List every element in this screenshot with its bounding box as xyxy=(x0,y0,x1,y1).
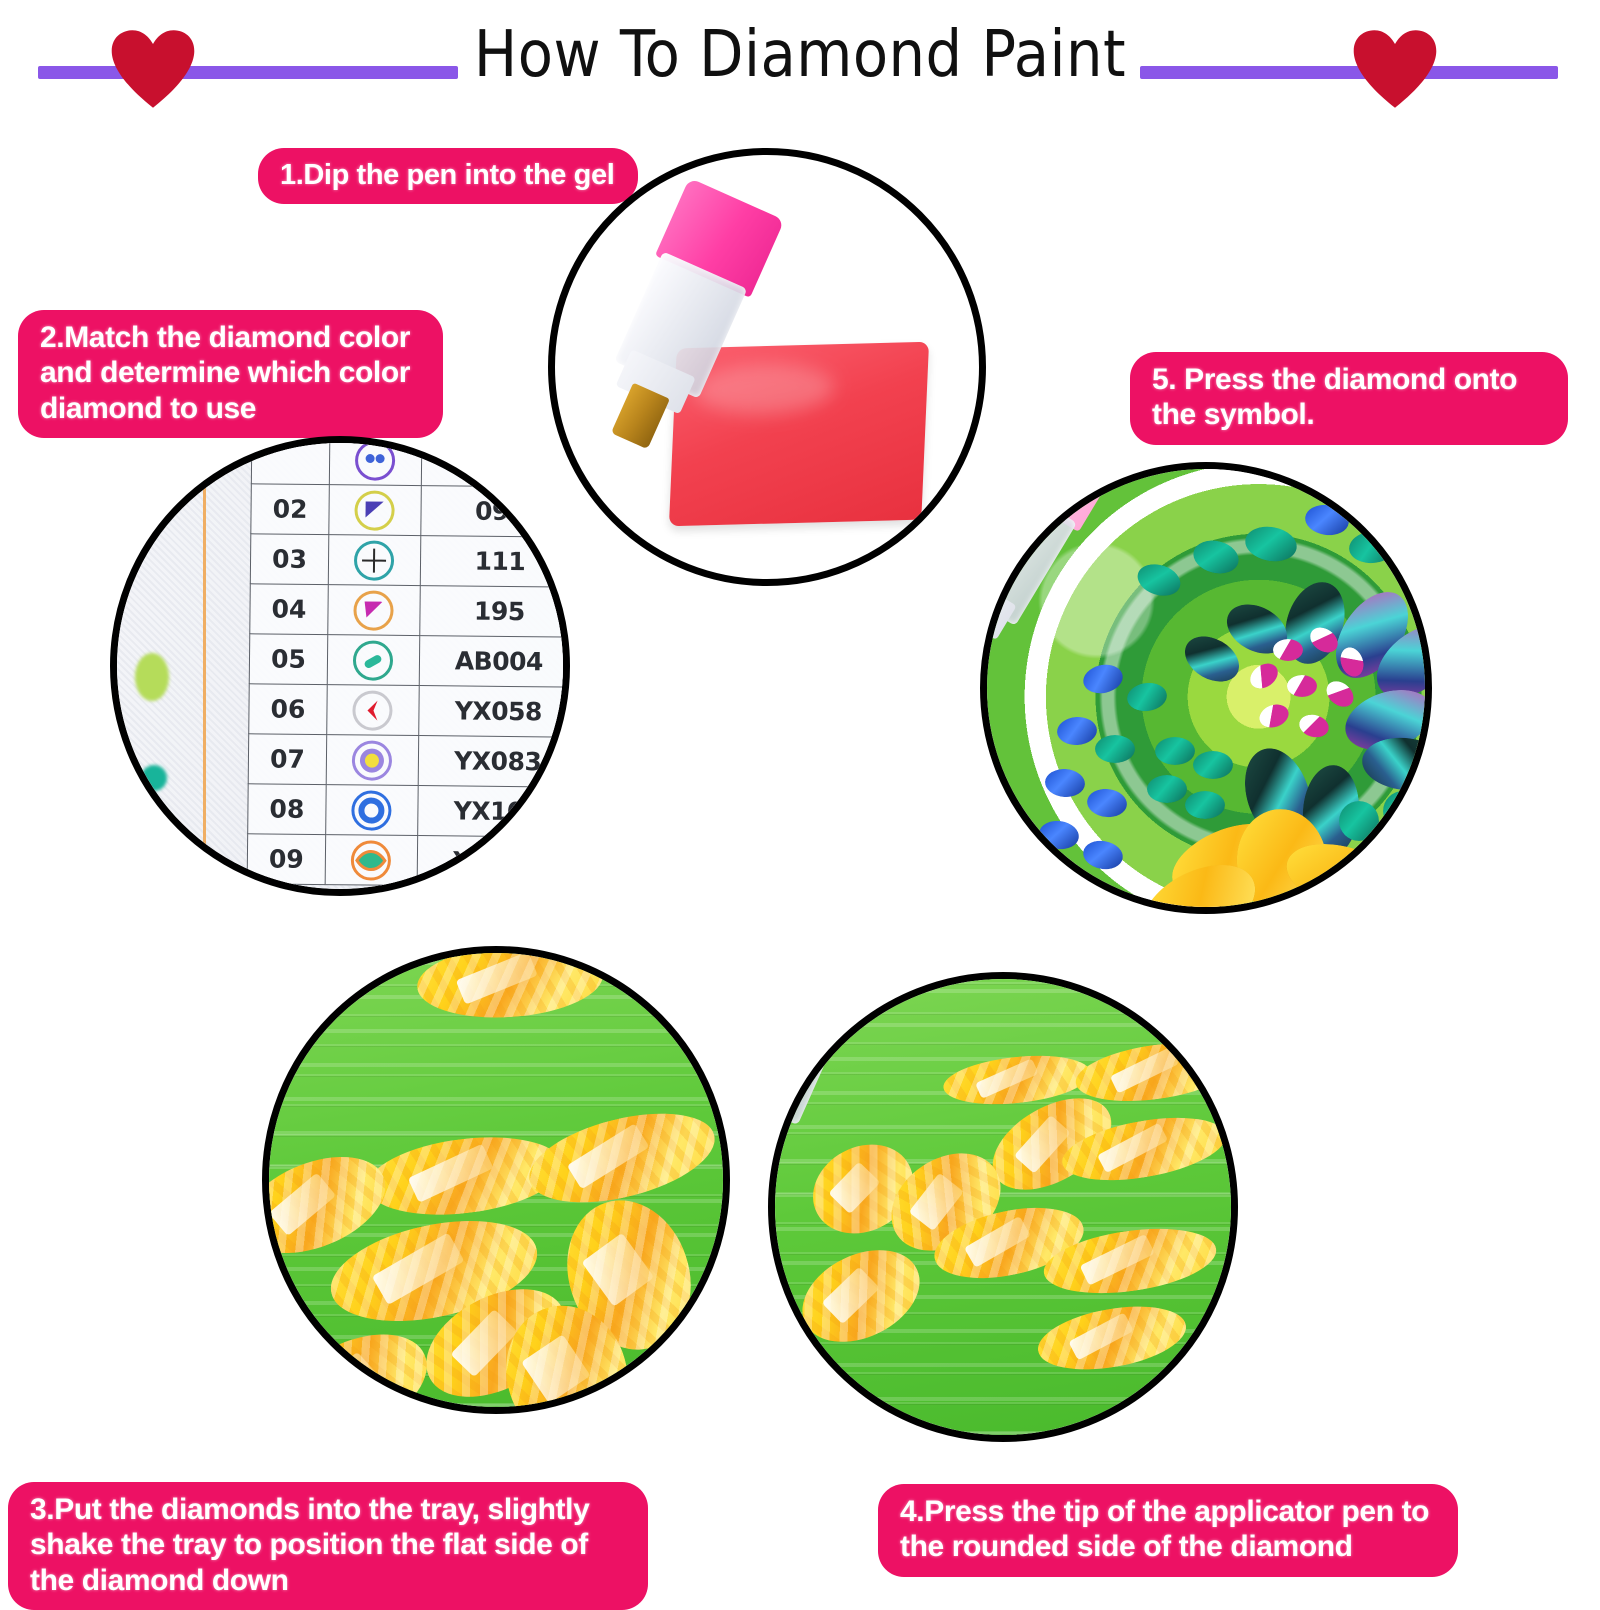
table-row: 06YX058 xyxy=(249,684,570,737)
legend-index-cell: 05 xyxy=(249,634,327,685)
step-3-label: 3.Put the diamonds into the tray, slight… xyxy=(8,1482,648,1610)
canvas-rhinestone xyxy=(1273,639,1303,661)
double-dot-circle-symbol xyxy=(329,436,421,486)
table-row: 04195 xyxy=(250,584,570,637)
legend-code-cell: AB004 xyxy=(419,636,570,688)
step-4-label: 4.Press the tip of the applicator pen to… xyxy=(878,1484,1458,1577)
pen-tip xyxy=(768,1113,772,1205)
left-chevron-symbol xyxy=(327,685,419,736)
legend-index-cell: 06 xyxy=(249,684,327,735)
legend-index-cell: 07 xyxy=(248,734,326,785)
legend-code-cell: 093 xyxy=(421,486,570,538)
leaf-eye-symbol xyxy=(325,835,417,886)
canvas-gem-blob xyxy=(135,653,169,701)
legend-code-cell: YX058 xyxy=(418,686,570,738)
triangle-wedge-symbol xyxy=(329,485,421,536)
heart-icon xyxy=(110,28,196,110)
legend-code-cell: YX106 xyxy=(417,786,570,838)
canvas-rhinestone xyxy=(1155,737,1195,765)
legend-code-cell: YX083 xyxy=(418,736,570,788)
table-row: 09YX125 xyxy=(247,834,570,887)
heart-icon xyxy=(1352,28,1438,110)
color-legend-table: 02802093031110419505AB00406YX05807YX0830… xyxy=(247,436,570,888)
table-row: 05AB004 xyxy=(249,634,570,687)
open-ring-symbol xyxy=(326,785,418,836)
infographic-canvas: How To Diamond Paint 1.Dip the pen into … xyxy=(0,0,1600,1600)
legend-index-cell: 02 xyxy=(251,484,329,535)
header-rule-right xyxy=(1140,66,1558,79)
table-row: 02093 xyxy=(251,484,570,537)
canvas-rhinestone xyxy=(1185,791,1225,819)
legend-code-cell: 111 xyxy=(420,536,570,588)
diagonal-capsule-symbol xyxy=(327,635,419,686)
canvas-rhinestone xyxy=(1193,751,1233,779)
legend-index-cell xyxy=(251,436,329,485)
step-4-photo xyxy=(768,972,1238,1442)
legend-index-cell: 09 xyxy=(247,834,325,885)
table-row: 028 xyxy=(251,436,570,487)
step-5-label: 5. Press the diamond onto the symbol. xyxy=(1130,352,1568,445)
canvas-rhinestone xyxy=(1383,791,1423,831)
legend-index-cell: 08 xyxy=(248,784,326,835)
header: How To Diamond Paint xyxy=(0,0,1600,130)
canvas-rhinestone xyxy=(1339,801,1379,841)
magenta-wedge-symbol xyxy=(328,585,420,636)
canvas-gem-blob xyxy=(141,765,167,791)
legend-code-cell: 195 xyxy=(419,586,570,638)
filled-donut-symbol xyxy=(326,735,418,786)
table-row: 03111 xyxy=(250,534,570,587)
step-1-photo xyxy=(548,148,986,586)
legend-index-cell: 03 xyxy=(250,534,328,585)
step-5-photo xyxy=(980,462,1432,914)
canvas-rhinestone xyxy=(1147,775,1187,803)
canvas-rhinestone xyxy=(1287,675,1317,697)
step-2-label: 2.Match the diamond color and determine … xyxy=(18,310,443,438)
legend-code-cell: 028 xyxy=(421,436,570,487)
legend-code-cell: YX125 xyxy=(417,836,570,888)
page-title: How To Diamond Paint xyxy=(400,18,1200,92)
table-row: 07YX083 xyxy=(248,734,570,787)
step-3-photo xyxy=(262,946,730,1414)
table-row: 08YX106 xyxy=(248,784,570,837)
plus-cross-symbol xyxy=(328,535,420,586)
legend-index-cell: 04 xyxy=(250,584,328,635)
step-2-photo: 02802093031110419505AB00406YX05807YX0830… xyxy=(110,436,570,896)
header-rule-left xyxy=(38,66,458,79)
canvas-margin-line xyxy=(203,443,206,889)
canvas-rhinestone xyxy=(1095,735,1135,763)
